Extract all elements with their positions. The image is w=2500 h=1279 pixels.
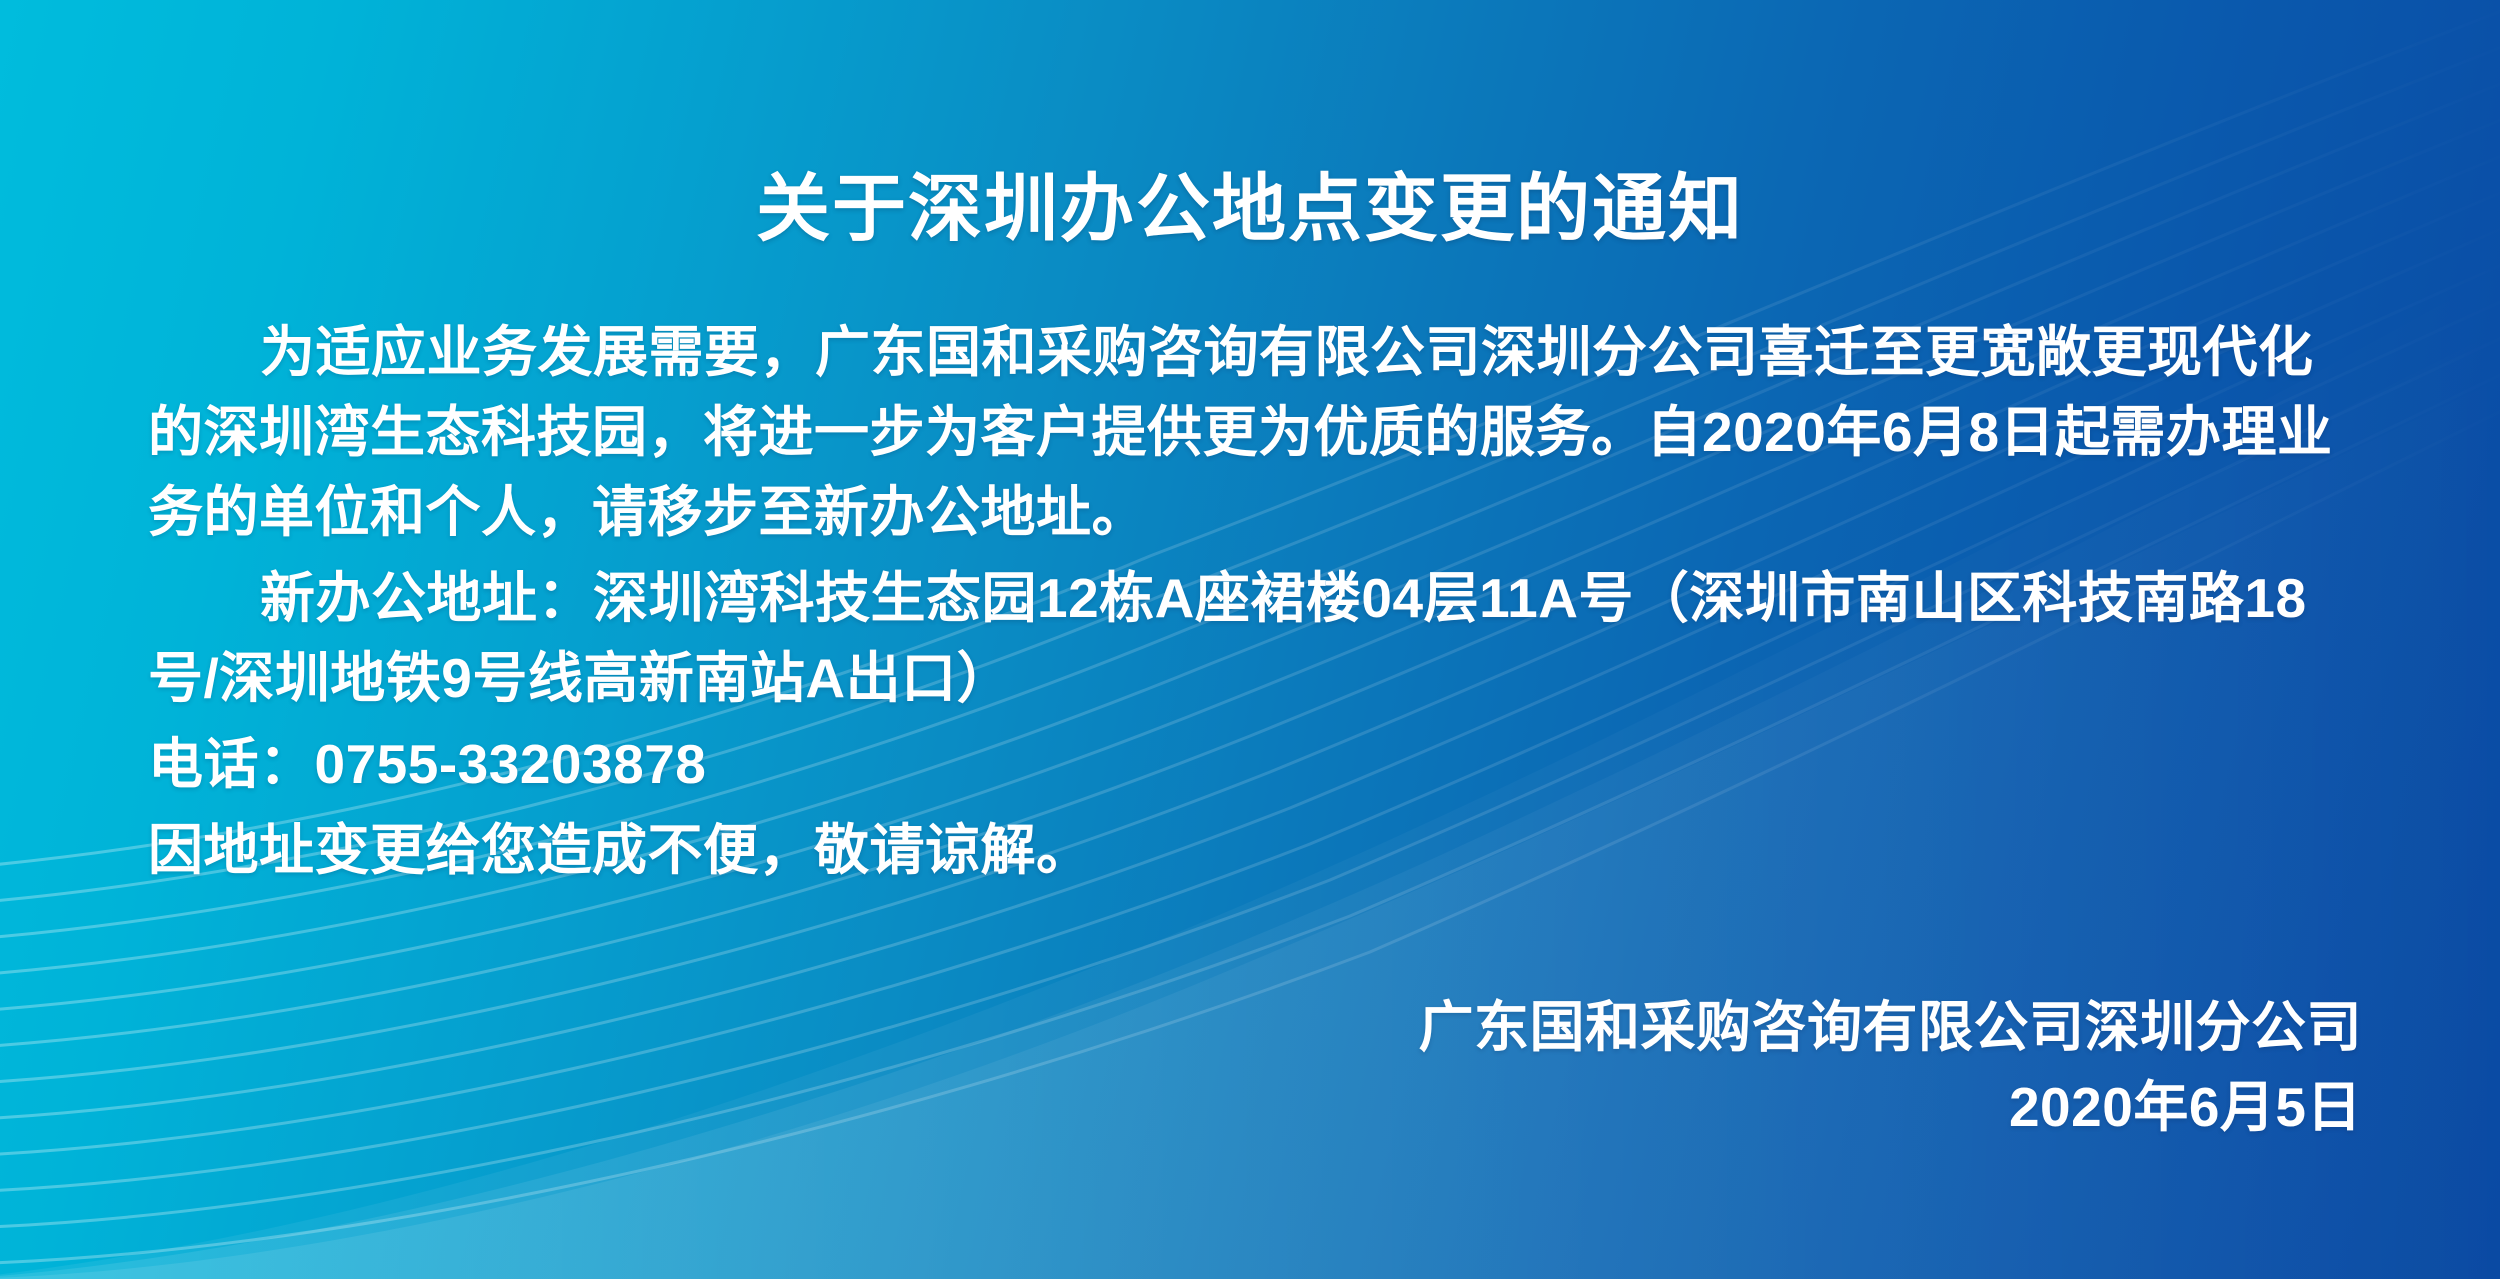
paragraph-notice-body: 为适应业务发展需要，广东国和采购咨询有限公司深圳分公司喜迁至更宽敞更现代化的深圳… (148, 312, 2363, 552)
paragraph-telephone: 电话：0755-33203878 (148, 724, 2363, 804)
signature-organization: 广东国和采购咨询有限公司深圳分公司 (1418, 987, 2362, 1067)
notice-content: 关于深圳办公地点变更的通知 为适应业务发展需要，广东国和采购咨询有限公司深圳分公… (0, 0, 2500, 1279)
paragraph-new-address: 新办公地址：深圳湾科技生态园12栋A座裙楼04层11A号（深圳市南山区科技南路1… (148, 558, 2363, 718)
notice-body-block: 为适应业务发展需要，广东国和采购咨询有限公司深圳分公司喜迁至更宽敞更现代化的深圳… (148, 312, 2363, 890)
notice-poster: 关于深圳办公地点变更的通知 为适应业务发展需要，广东国和采购咨询有限公司深圳分公… (0, 0, 2500, 1279)
signature-date: 2020年6月5日 (1418, 1067, 2362, 1147)
paragraph-apology: 因地址变更给您造成不便，敬请谅解。 (148, 810, 2363, 890)
signature-block: 广东国和采购咨询有限公司深圳分公司 2020年6月5日 (1418, 987, 2362, 1147)
page-title: 关于深圳办公地点变更的通知 (0, 168, 2500, 249)
